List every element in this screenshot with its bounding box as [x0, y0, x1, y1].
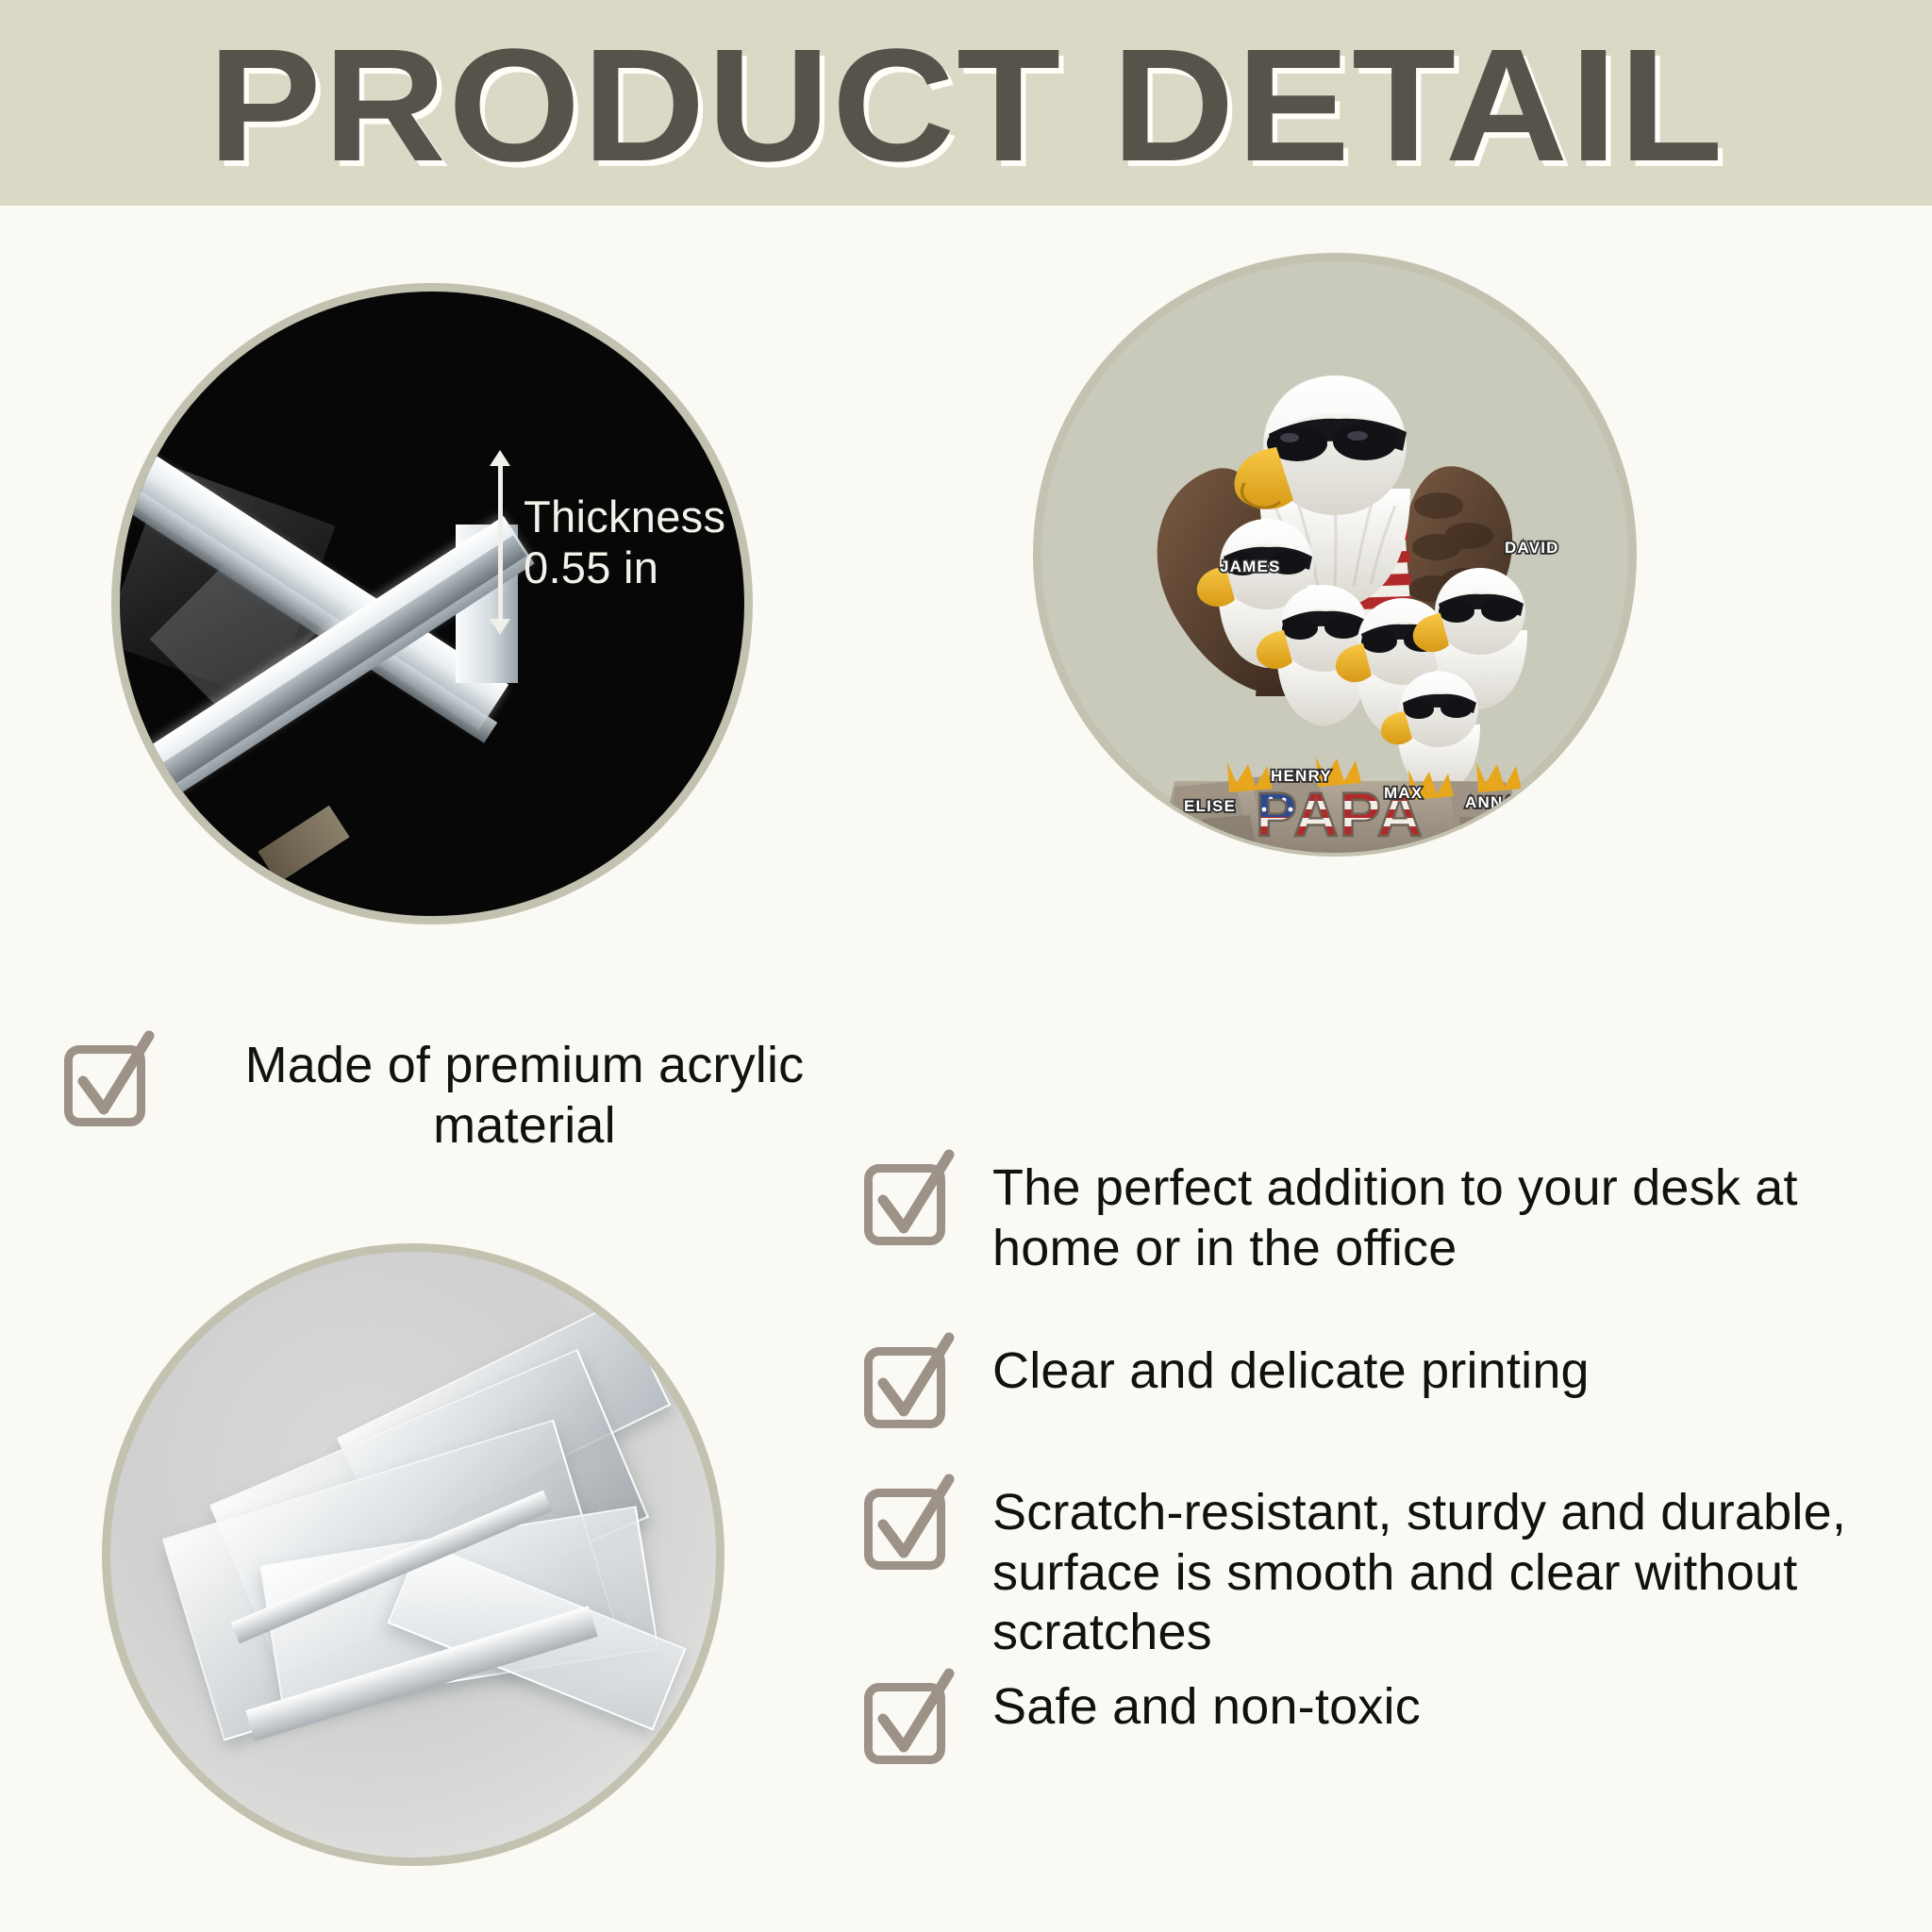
feature-text: Made of premium acrylic material: [175, 1036, 874, 1156]
checkmark-icon: [858, 1668, 960, 1770]
thickness-callout: Thickness 0.55 in: [490, 450, 725, 635]
thickness-photo-circle: Thickness 0.55 in: [111, 283, 753, 924]
feature-text: Scratch-resistant, sturdy and durable, s…: [992, 1483, 1906, 1663]
feature-clear-printing: Clear and delicate printing: [858, 1332, 1906, 1434]
page-header: PRODUCT DETAIL: [0, 0, 1932, 206]
product-photo-circle: [1033, 253, 1637, 857]
thickness-label: Thickness: [524, 491, 725, 542]
thickness-text: Thickness 0.55 in: [524, 491, 725, 593]
feature-desk-addition: The perfect addition to your desk at hom…: [858, 1149, 1906, 1278]
checkmark-icon: [858, 1474, 960, 1575]
sheets-photo-circle: [102, 1243, 724, 1866]
feature-scratch-resistant: Scratch-resistant, sturdy and durable, s…: [858, 1474, 1906, 1663]
checkmark-icon: [58, 1030, 160, 1132]
feature-non-toxic: Safe and non-toxic: [858, 1668, 1906, 1770]
page-title: PRODUCT DETAIL: [208, 25, 1724, 186]
thickness-value: 0.55 in: [524, 542, 725, 593]
feature-premium-acrylic: Made of premium acrylic material: [58, 1030, 889, 1156]
feature-text: Clear and delicate printing: [992, 1341, 1906, 1402]
feature-text: Safe and non-toxic: [992, 1677, 1906, 1738]
checkmark-icon: [858, 1149, 960, 1251]
checkmark-icon: [858, 1332, 960, 1434]
double-arrow-icon: [490, 450, 510, 635]
acrylic-warm-glint: [258, 806, 349, 884]
feature-text: The perfect addition to your desk at hom…: [992, 1158, 1906, 1278]
